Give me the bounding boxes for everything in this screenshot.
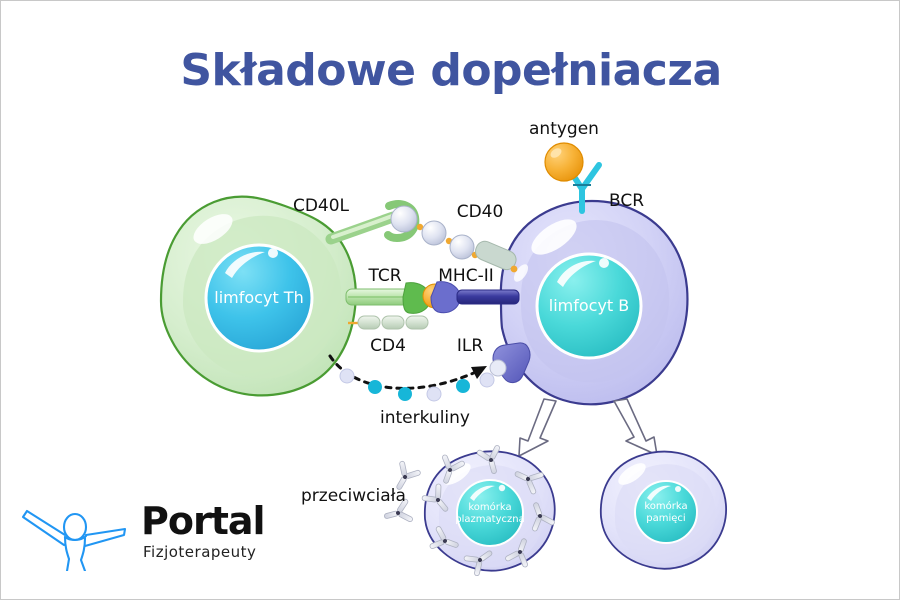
mhc2-rod <box>457 290 519 304</box>
tcr-mhc-synapse: TCR MHC-II <box>346 266 519 313</box>
interleukin-dot-3 <box>398 387 412 401</box>
b-cell-label: limfocyt B <box>549 296 630 315</box>
memory-cell-nucleus <box>635 481 697 543</box>
cd40l-label: CD40L <box>293 196 350 216</box>
differentiation-arrows <box>519 399 657 456</box>
memory-cell-label-line2: pamięci <box>646 513 685 524</box>
interleukin-dot-1 <box>340 369 354 383</box>
cd40-label: CD40 <box>457 202 504 222</box>
plasma-cell-nucleus-dot <box>499 485 505 491</box>
logo-wordmark: Portal <box>141 501 265 541</box>
przeciwciala-label: przeciwciała <box>301 486 406 506</box>
arrow-to-plasma-cell <box>519 399 556 456</box>
mhc2-label: MHC-II <box>438 266 493 286</box>
stick-figure-person-icon <box>17 501 137 571</box>
cd4-capsule-3 <box>406 316 428 329</box>
b-cell-nucleus-dot <box>599 258 609 268</box>
plasma-cell-label-line1: komórka <box>468 501 511 513</box>
antigen-label: antygen <box>529 119 599 139</box>
interleukin-dot-2 <box>368 380 382 394</box>
cd40-sphere-3 <box>450 235 474 259</box>
mhc2-head <box>431 282 460 313</box>
interleukin-dot-4 <box>427 387 441 401</box>
t-cell-label: limfocyt Th <box>214 288 303 307</box>
cell-t-helper: limfocyt Th <box>161 197 356 396</box>
cd4-capsule-1 <box>358 316 380 329</box>
plasma-cell-nucleus <box>457 480 523 546</box>
cell-memory: komórka pamięci <box>601 452 726 569</box>
memory-cell-nucleus-dot <box>675 486 681 492</box>
memory-cell-label-line1: komórka <box>644 500 687 512</box>
cell-plasma: komórka plazmatyczna <box>301 444 556 578</box>
ilr-tip-sphere <box>490 360 506 376</box>
ilr-label: ILR <box>457 336 483 356</box>
bcr-label: BCR <box>609 191 644 211</box>
cd40-sphere-2 <box>422 221 446 245</box>
tcr-label: TCR <box>367 266 401 286</box>
interleukin-dot-5 <box>456 379 470 393</box>
logo-subtitle: Fizjoterapeuty <box>143 543 256 561</box>
antigen-sphere <box>545 143 583 181</box>
portal-fizjoterapeuty-logo[interactable]: Portal Fizjoterapeuty <box>17 501 267 571</box>
interkuliny-label: interkuliny <box>380 408 470 428</box>
cd4-receptor: CD4 <box>348 316 428 356</box>
bcr-complex: antygen BCR <box>529 119 644 211</box>
cd4-capsule-2 <box>382 316 404 329</box>
cell-b: limfocyt B <box>501 201 688 404</box>
arrow-to-memory-cell <box>614 399 657 455</box>
plasma-cell-label-line2: plazmatyczna <box>455 514 524 525</box>
diagram-page: Składowe dopełniacza <box>0 0 900 600</box>
cd4-label: CD4 <box>370 336 406 356</box>
interleukin-dot-6 <box>480 373 494 387</box>
cd40-joint-4 <box>511 266 518 273</box>
t-cell-nucleus-dot <box>268 248 278 258</box>
interleukin-group: interkuliny <box>330 356 494 428</box>
cd40l-stalk-gloss <box>333 216 392 237</box>
cd40-sphere-1 <box>391 206 417 232</box>
